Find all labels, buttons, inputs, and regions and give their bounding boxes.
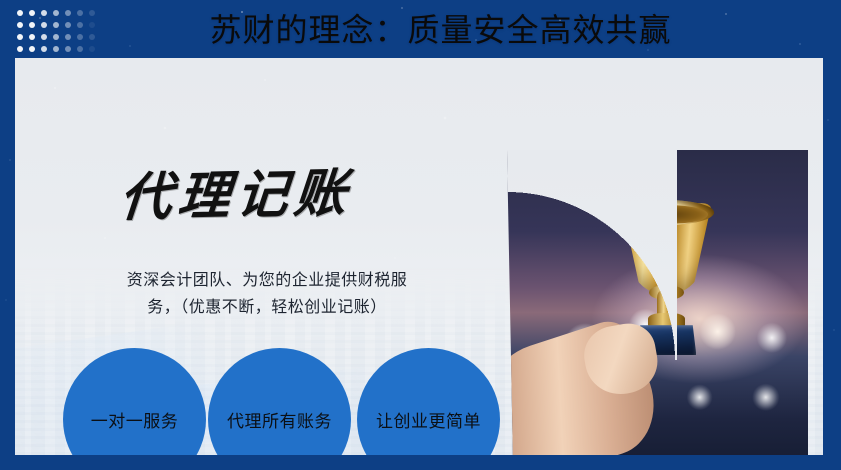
feature-bubble-three[interactable]: 让创业更简单 <box>357 348 500 455</box>
content-panel: 代理记账 资深会计团队、为您的企业提供财税服 务，（优惠不断，轻松创业记账） 一… <box>15 58 823 455</box>
feature-bubble-one[interactable]: 一对一服务 <box>63 348 206 455</box>
feature-bubble-two[interactable]: 代理所有账务 <box>208 348 351 455</box>
slide-root: 苏财的理念：质量安全高效共赢 <box>0 0 841 470</box>
slide-title: 苏财的理念：质量安全高效共赢 <box>0 8 841 52</box>
feature-bubbles: 一对一服务 代理所有账务 让创业更简单 <box>15 58 823 455</box>
